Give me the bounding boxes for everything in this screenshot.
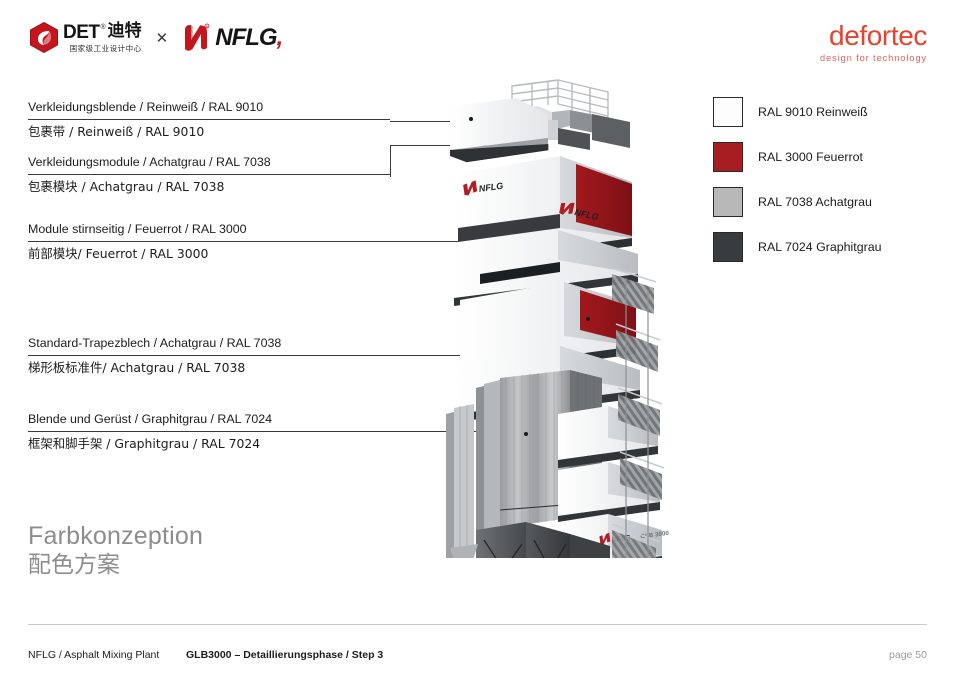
legend-label: RAL 7024 Graphitgrau <box>758 240 882 254</box>
footer-divider <box>28 624 927 625</box>
footer-page-number: page 50 <box>889 649 927 661</box>
callout-label-de: Standard-Trapezblech / Achatgrau / RAL 7… <box>28 336 485 355</box>
page-title-de: Farbkonzeption <box>28 522 203 550</box>
plant-render-image: NFLG NFLG <box>440 78 700 558</box>
callout-blende-und-geruest: Blende und Gerüst / Graphitgrau / RAL 70… <box>28 412 485 452</box>
legend-swatch-ral3000 <box>713 142 743 172</box>
module-top-white <box>450 98 548 162</box>
slide-title: Farbkonzeption 配色方案 <box>28 522 203 580</box>
legend-label: RAL 7038 Achatgrau <box>758 195 872 209</box>
leader-line-2-vertical <box>390 145 391 177</box>
nflg-logo: R NFLG, <box>182 23 282 53</box>
callout-standard-trapezblech: Standard-Trapezblech / Achatgrau / RAL 7… <box>28 336 485 376</box>
det-logo: DET ® 迪特 国家级工业设计中心 <box>30 22 142 53</box>
slide-header: DET ® 迪特 国家级工业设计中心 ✕ R NF <box>0 0 955 80</box>
nflg-wordmark: NFLG, <box>215 24 282 52</box>
legend-item: RAL 3000 Feuerrot <box>713 137 882 177</box>
color-legend: RAL 9010 Reinweiß RAL 3000 Feuerrot RAL … <box>713 92 882 272</box>
nflg-brand-text: NFLG <box>215 24 276 51</box>
callout-label-cn: 包裹模块 / Achatgrau / RAL 7038 <box>28 175 390 195</box>
legend-item: RAL 7038 Achatgrau <box>713 182 882 222</box>
det-chinese-name: 迪特 <box>108 23 142 40</box>
render-anchor-point-3 <box>586 317 590 321</box>
callout-verkleidungsblende: Verkleidungsblende / Reinweiß / RAL 9010… <box>28 100 390 140</box>
legend-label: RAL 9010 Reinweiß <box>758 105 868 119</box>
defortec-name: defortec <box>820 22 927 50</box>
det-brand-text: DET <box>63 23 100 42</box>
footer-phase-label: GLB3000 – Detaillierungsphase / Step 3 <box>186 649 383 661</box>
callout-label-cn: 包裹带 / Reinweiß / RAL 9010 <box>28 120 390 140</box>
det-wordmark: DET ® 迪特 国家级工业设计中心 <box>63 23 142 53</box>
legend-swatch-ral9010 <box>713 97 743 127</box>
callout-verkleidungsmodule: Verkleidungsmodule / Achatgrau / RAL 703… <box>28 155 390 195</box>
legend-swatch-ral7024 <box>713 232 743 262</box>
callout-label-cn: 框架和脚手架 / Graphitgrau / RAL 7024 <box>28 432 485 452</box>
nflg-n-mark-icon: R <box>182 23 212 53</box>
nflg-comma-accent: , <box>277 24 283 51</box>
det-registered-mark: ® <box>101 24 106 31</box>
slide: DET ® 迪特 国家级工业设计中心 ✕ R NF <box>0 0 955 675</box>
det-hexagon-icon <box>30 22 58 53</box>
legend-label: RAL 3000 Feuerrot <box>758 150 863 164</box>
slide-footer: NFLG / Asphalt Mixing Plant GLB3000 – De… <box>28 649 927 663</box>
callout-label-de: Module stirnseitig / Feuerrot / RAL 3000 <box>28 222 471 241</box>
callout-label-de: Verkleidungsblende / Reinweiß / RAL 9010 <box>28 100 390 119</box>
logo-separator-x: ✕ <box>156 29 169 47</box>
render-anchor-point-1 <box>469 117 473 121</box>
det-subtitle: 国家级工业设计中心 <box>63 45 142 53</box>
render-anchor-point-4 <box>524 432 528 436</box>
defortec-logo: defortec design for technology <box>820 22 927 64</box>
legend-item: RAL 7024 Graphitgrau <box>713 227 882 267</box>
legend-item: RAL 9010 Reinweiß <box>713 92 882 132</box>
callout-label-cn: 梯形板标准件/ Achatgrau / RAL 7038 <box>28 356 485 376</box>
legend-swatch-ral7038 <box>713 187 743 217</box>
defortec-tagline: design for technology <box>820 53 927 64</box>
callout-label-de: Verkleidungsmodule / Achatgrau / RAL 703… <box>28 155 390 174</box>
partner-logos: DET ® 迪特 国家级工业设计中心 ✕ R NF <box>30 22 282 53</box>
page-title-cn: 配色方案 <box>28 552 203 580</box>
footer-project-name: NFLG / Asphalt Mixing Plant <box>28 649 159 661</box>
elevator-column <box>446 404 478 558</box>
callout-module-stirnseitig: Module stirnseitig / Feuerrot / RAL 3000… <box>28 222 471 262</box>
callout-label-cn: 前部模块/ Feuerrot / RAL 3000 <box>28 242 471 262</box>
callout-label-de: Blende und Gerüst / Graphitgrau / RAL 70… <box>28 412 485 431</box>
